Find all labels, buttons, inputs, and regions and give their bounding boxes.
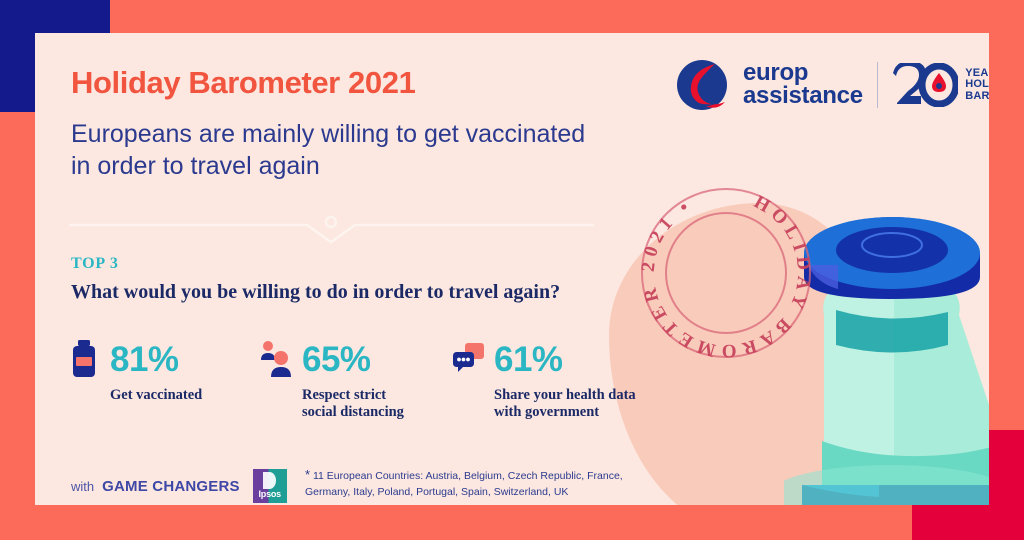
stat-label-line1: Share your health data <box>494 387 636 404</box>
footnote: * 11 European Countries: Austria, Belgiu… <box>305 466 665 500</box>
anniversary-line3: BAROMETER <box>965 91 989 103</box>
section-eyebrow: TOP 3 <box>71 255 119 273</box>
svg-text:HOLIDAY BAROMETER 2021 •: HOLIDAY BAROMETER 2021 • <box>638 192 814 361</box>
europ-assistance-swirl-icon <box>675 58 729 112</box>
page-title: Holiday Barometer 2021 <box>71 65 415 101</box>
footnote-star: * <box>305 467 310 482</box>
holiday-barometer-stamp: HOLIDAY BAROMETER 2021 • <box>638 185 814 361</box>
stats-group: 81% Get vaccinated <box>67 335 707 425</box>
logo-divider <box>877 62 879 108</box>
ipsos-swoosh-icon <box>263 472 276 489</box>
vaccine-vial-icon <box>67 339 101 379</box>
stat-item: 61% Share your health data with governme… <box>451 335 636 421</box>
europ-assistance-wordmark: europ assistance <box>743 62 863 107</box>
game-changers-label: GAME CHANGERS <box>102 478 240 495</box>
stat-item: 65% Respect strict social distancing <box>259 335 404 421</box>
section-question: What would you be willing to do in order… <box>71 281 560 304</box>
stat-label-line1: Respect strict <box>302 387 404 404</box>
stat-label: Share your health data with government <box>494 387 636 421</box>
stat-label: Get vaccinated <box>110 387 202 404</box>
stat-percent: 81% <box>110 342 179 377</box>
page-subtitle: Europeans are mainly willing to get vacc… <box>71 118 591 182</box>
two-people-icon <box>259 339 293 379</box>
chat-bubble-icon <box>451 339 485 379</box>
content-card: Holiday Barometer 2021 Europeans are mai… <box>35 33 989 505</box>
footnote-line2: Germany, Italy, Poland, Portugal, Spain,… <box>305 486 568 498</box>
infographic-stage: Holiday Barometer 2021 Europeans are mai… <box>0 0 1024 540</box>
anniversary-badge: YEARS HOLIDAY BAROMETER <box>892 63 989 107</box>
stat-percent: 65% <box>302 342 371 377</box>
stat-label-line1: Get vaccinated <box>110 387 202 404</box>
europ-assistance-logo: europ assistance YEARS HOLIDAY BAROMETER <box>675 58 989 112</box>
ipsos-logo: Ipsos <box>253 469 287 503</box>
stat-item: 81% Get vaccinated <box>67 335 202 404</box>
anniversary-twenty-icon <box>892 63 958 107</box>
anniversary-text: YEARS HOLIDAY BAROMETER <box>965 68 989 103</box>
droplet-icon <box>932 73 946 92</box>
footnote-line1: 11 European Countries: Austria, Belgium,… <box>313 470 623 482</box>
stat-label-line2: social distancing <box>302 404 404 421</box>
ipsos-logo-text: Ipsos <box>258 489 281 499</box>
stamp-text: HOLIDAY BAROMETER 2021 • <box>638 192 814 361</box>
stat-label: Respect strict social distancing <box>302 387 404 421</box>
stat-percent: 61% <box>494 342 563 377</box>
section-divider <box>69 216 594 244</box>
with-label: with <box>71 479 94 494</box>
vaccine-vial-illustration <box>784 195 989 505</box>
brand-line2: assistance <box>743 85 863 108</box>
partner-credit: with GAME CHANGERS Ipsos <box>71 469 287 503</box>
stat-label-line2: with government <box>494 404 636 421</box>
